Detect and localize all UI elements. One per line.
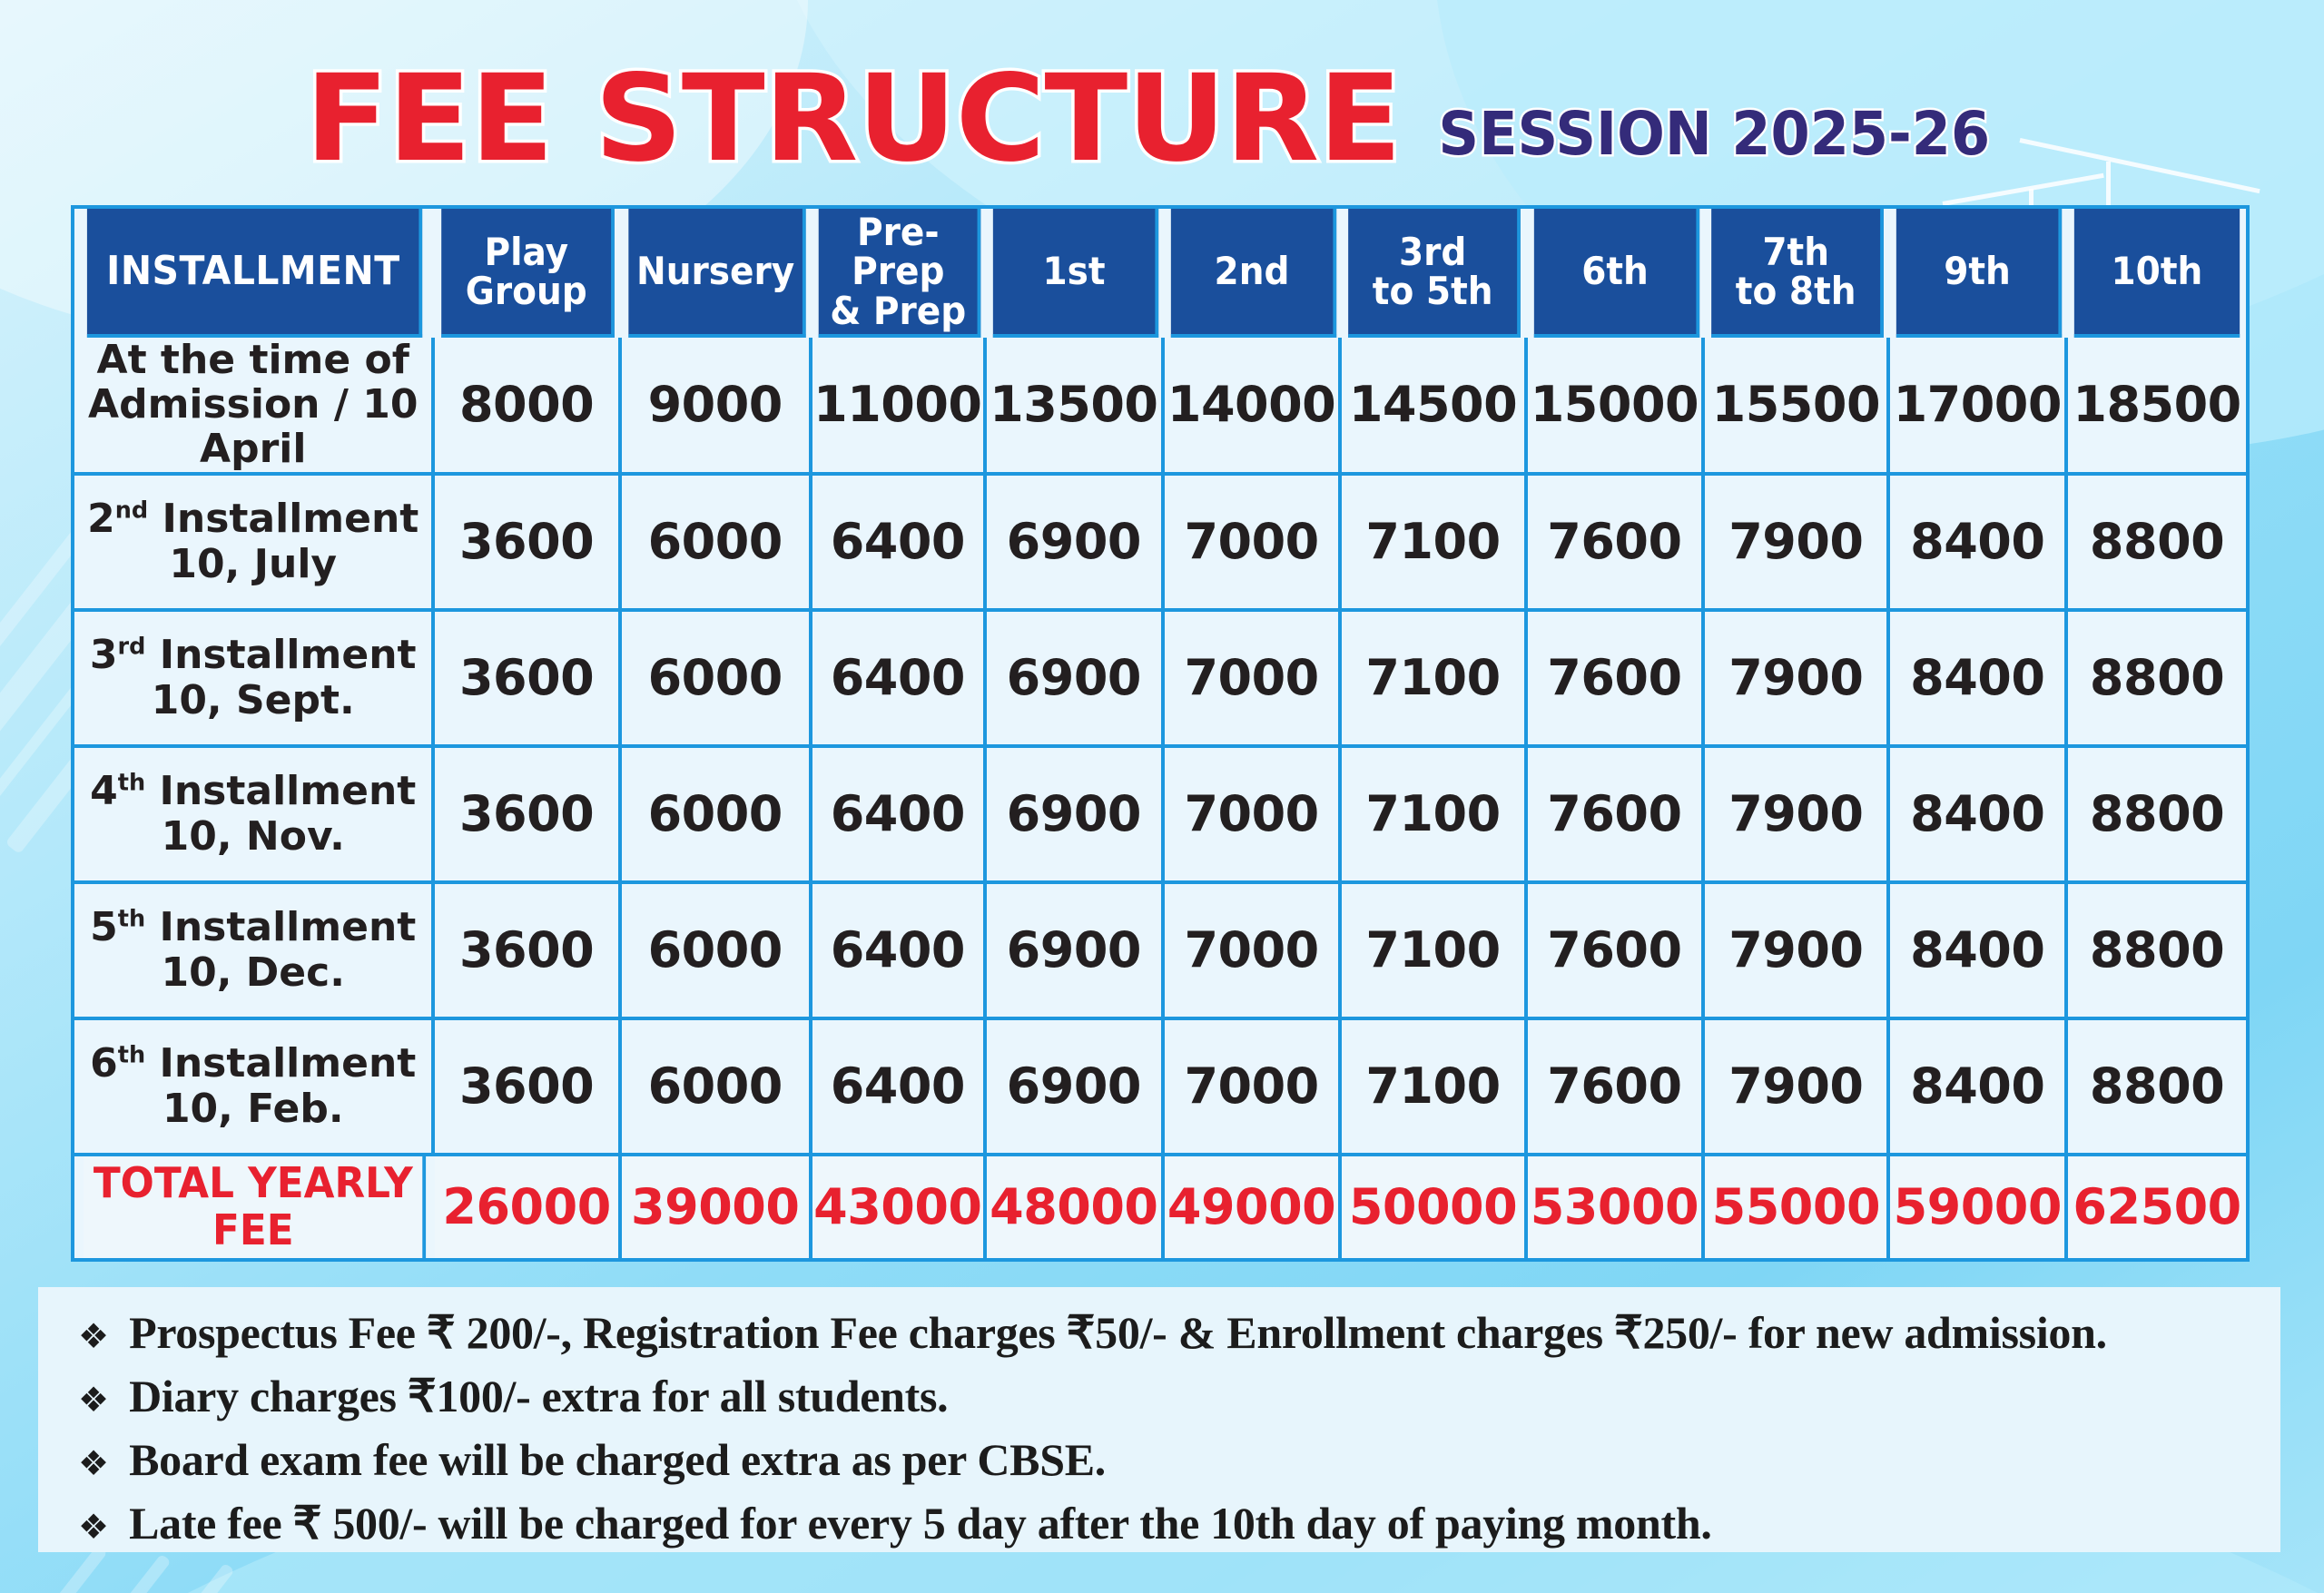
fee-cell: 8800	[2068, 612, 2246, 748]
installment-label-line: 10, Sept.	[84, 678, 422, 723]
note-text: Diary charges ₹100/- extra for all stude…	[129, 1371, 948, 1421]
fee-structure-table: INSTALLMENTPlayGroupNurseryPre-Prep& Pre…	[71, 205, 2250, 1262]
fee-cell: 17000	[1890, 338, 2068, 476]
header-line: & Prep	[820, 291, 975, 330]
fee-cell: 7900	[1705, 748, 1890, 884]
installment-label-line: 6th Installment	[84, 1041, 422, 1086]
table-row: At the time ofAdmission / 10 April800090…	[74, 338, 2246, 476]
header-line: 2nd	[1172, 251, 1331, 290]
total-fee-cell: 50000	[1342, 1156, 1527, 1258]
installment-label-line: 5th Installment	[84, 905, 422, 949]
fee-cell: 7900	[1705, 1020, 1890, 1156]
fee-cell: 8800	[2068, 476, 2246, 612]
installment-word: Installment	[145, 904, 416, 950]
fee-cell: 6900	[987, 476, 1165, 612]
column-header-class-2: Nursery	[628, 209, 805, 338]
table-head: INSTALLMENTPlayGroupNurseryPre-Prep& Pre…	[74, 209, 2246, 338]
installment-label: At the time ofAdmission / 10 April	[74, 338, 435, 476]
column-header-installment: INSTALLMENT	[87, 209, 423, 338]
header-line: INSTALLMENT	[89, 251, 418, 291]
session-label: SESSION 2025-26	[1439, 104, 1991, 179]
fee-cell: 7600	[1528, 612, 1706, 748]
table-row: 5th Installment10, Dec.36006000640069007…	[74, 884, 2246, 1020]
fee-cell: 6000	[622, 748, 812, 884]
diamond-bullet-icon: ❖	[78, 1510, 109, 1545]
fee-cell: 8800	[2068, 1020, 2246, 1156]
diamond-bullet-icon: ❖	[78, 1447, 109, 1481]
fee-cell: 8400	[1890, 748, 2068, 884]
fee-cell: 6000	[622, 476, 812, 612]
installment-label-line: 10, Nov.	[84, 814, 422, 859]
table-body: At the time ofAdmission / 10 April800090…	[74, 338, 2246, 1258]
total-fee-cell: 49000	[1165, 1156, 1343, 1258]
installment-word: Installment	[148, 496, 419, 542]
installment-word: Installment	[145, 768, 416, 814]
fee-cell: 6400	[812, 612, 987, 748]
note-item: ❖Board exam fee will be charged extra as…	[78, 1434, 2253, 1485]
fee-cell: 14500	[1342, 338, 1527, 476]
notes-panel: ❖Prospectus Fee ₹ 200/-, Registration Fe…	[38, 1287, 2280, 1552]
fee-cell: 6400	[812, 884, 987, 1020]
installment-label: 3rd Installment10, Sept.	[74, 612, 435, 748]
fee-cell: 7600	[1528, 1020, 1706, 1156]
fee-cell: 6900	[987, 884, 1165, 1020]
column-header-class-5: 2nd	[1171, 209, 1336, 338]
total-fee-cell: 43000	[812, 1156, 987, 1258]
fee-cell: 8800	[2068, 884, 2246, 1020]
fee-cell: 7600	[1528, 884, 1706, 1020]
header-line: Play	[444, 232, 610, 271]
fee-cell: 7100	[1342, 612, 1527, 748]
page-title: FEE STRUCTURE	[305, 59, 1401, 179]
installment-word: Installment	[145, 632, 416, 678]
fee-cell: 6900	[987, 612, 1165, 748]
fee-cell: 8400	[1890, 612, 2068, 748]
installment-label: 5th Installment10, Dec.	[74, 884, 435, 1020]
ordinal-number: 6	[90, 1040, 118, 1087]
bg-stripe-7	[141, 1563, 234, 1593]
fee-cell: 7000	[1165, 1020, 1343, 1156]
fee-cell: 6000	[622, 884, 812, 1020]
header-line: 3rd	[1350, 232, 1515, 271]
total-fee-cell: 55000	[1705, 1156, 1890, 1258]
fee-cell: 3600	[435, 1020, 621, 1156]
column-header-class-6: 3rdto 5th	[1349, 209, 1521, 338]
fee-cell: 7000	[1165, 476, 1343, 612]
ordinal-number: 5	[90, 904, 118, 950]
fee-cell: 7900	[1705, 612, 1890, 748]
total-fee-cell: 59000	[1890, 1156, 2068, 1258]
fee-cell: 7900	[1705, 884, 1890, 1020]
fee-cell: 6400	[812, 748, 987, 884]
page-header: FEE STRUCTURE SESSION 2025-26	[0, 20, 2324, 179]
total-fee-cell: 26000	[435, 1156, 621, 1258]
fee-cell: 8000	[435, 338, 621, 476]
header-line: 9th	[1898, 251, 2057, 290]
ordinal-suffix: rd	[118, 634, 146, 661]
header-line: to 5th	[1350, 271, 1515, 310]
installment-label-line: At the time of	[84, 338, 422, 382]
fee-cell: 6900	[987, 1020, 1165, 1156]
column-header-class-10: 10th	[2074, 209, 2240, 338]
header-line: Group	[444, 271, 610, 310]
fee-cell: 6000	[622, 1020, 812, 1156]
fee-cell: 3600	[435, 884, 621, 1020]
total-fee-cell: 62500	[2068, 1156, 2246, 1258]
ordinal-number: 3	[90, 632, 118, 678]
ordinal-suffix: th	[118, 906, 145, 933]
fee-cell: 7100	[1342, 476, 1527, 612]
installment-word: Installment	[145, 1040, 416, 1087]
fee-table-container: INSTALLMENTPlayGroupNurseryPre-Prep& Pre…	[71, 205, 2250, 1262]
bg-stripe-6	[77, 1554, 171, 1593]
fee-cell: 18500	[2068, 338, 2246, 476]
ordinal-suffix: th	[118, 770, 145, 797]
fee-cell: 7000	[1165, 612, 1343, 748]
note-item: ❖Diary charges ₹100/- extra for all stud…	[78, 1371, 2253, 1421]
column-header-class-4: 1st	[993, 209, 1158, 338]
note-item: ❖Late fee ₹ 500/- will be charged for ev…	[78, 1498, 2253, 1549]
fee-cell: 7100	[1342, 1020, 1527, 1156]
fee-cell: 3600	[435, 748, 621, 884]
fee-cell: 9000	[622, 338, 812, 476]
note-text: Board exam fee will be charged extra as …	[129, 1434, 1106, 1485]
fee-cell: 7600	[1528, 476, 1706, 612]
table-header-row: INSTALLMENTPlayGroupNurseryPre-Prep& Pre…	[74, 209, 2246, 338]
fee-cell: 11000	[812, 338, 987, 476]
fee-cell: 8800	[2068, 748, 2246, 884]
header-line: 1st	[995, 251, 1154, 290]
installment-label-line: 10, July	[84, 542, 422, 586]
fee-cell: 6400	[812, 476, 987, 612]
diamond-bullet-icon: ❖	[78, 1320, 109, 1354]
column-header-class-1: PlayGroup	[442, 209, 615, 338]
fee-cell: 7600	[1528, 748, 1706, 884]
fee-cell: 15000	[1528, 338, 1706, 476]
installment-label-line: 4th Installment	[84, 769, 422, 813]
fee-cell: 15500	[1705, 338, 1890, 476]
header-line: 6th	[1535, 251, 1694, 290]
fee-cell: 8400	[1890, 476, 2068, 612]
header-line: 7th	[1713, 232, 1878, 271]
fee-cell: 13500	[987, 338, 1165, 476]
header-line: 10th	[2076, 251, 2238, 290]
note-text: Late fee ₹ 500/- will be charged for eve…	[129, 1498, 1711, 1549]
diamond-bullet-icon: ❖	[78, 1383, 109, 1418]
table-row: 4th Installment10, Nov.36006000640069007…	[74, 748, 2246, 884]
fee-cell: 7100	[1342, 748, 1527, 884]
fee-cell: 14000	[1165, 338, 1343, 476]
fee-cell: 7000	[1165, 884, 1343, 1020]
installment-label-line: 10, Dec.	[84, 950, 422, 995]
ordinal-suffix: nd	[115, 497, 148, 525]
ordinal-number: 2	[87, 496, 115, 542]
note-text: Prospectus Fee ₹ 200/-, Registration Fee…	[129, 1307, 2107, 1358]
column-header-class-9: 9th	[1896, 209, 2062, 338]
ordinal-suffix: th	[118, 1042, 145, 1069]
fee-cell: 8400	[1890, 1020, 2068, 1156]
total-label: TOTAL YEARLY FEE	[84, 1156, 427, 1258]
fee-cell: 6900	[987, 748, 1165, 884]
installment-label: 6th Installment10, Feb.	[74, 1020, 435, 1156]
fee-cell: 7000	[1165, 748, 1343, 884]
fee-cell: 6000	[622, 612, 812, 748]
total-fee-cell: 39000	[622, 1156, 812, 1258]
installment-label-line: 10, Feb.	[84, 1087, 422, 1131]
total-fee-cell: 48000	[987, 1156, 1165, 1258]
note-item: ❖Prospectus Fee ₹ 200/-, Registration Fe…	[78, 1307, 2253, 1358]
fee-cell: 3600	[435, 612, 621, 748]
header-line: Pre-Prep	[820, 212, 975, 291]
fee-cell: 7900	[1705, 476, 1890, 612]
installment-label-line: Admission / 10 April	[84, 382, 422, 472]
header-line: Nursery	[630, 251, 801, 290]
fee-cell: 7100	[1342, 884, 1527, 1020]
installment-label-line: 2nd Installment	[84, 497, 422, 541]
column-header-class-3: Pre-Prep& Prep	[818, 209, 980, 338]
fee-cell: 3600	[435, 476, 621, 612]
installment-label: 4th Installment10, Nov.	[74, 748, 435, 884]
fee-cell: 6400	[812, 1020, 987, 1156]
table-row: 3rd Installment10, Sept.3600600064006900…	[74, 612, 2246, 748]
total-fee-cell: 53000	[1528, 1156, 1706, 1258]
ordinal-number: 4	[90, 768, 118, 814]
table-row: 6th Installment10, Feb.36006000640069007…	[74, 1020, 2246, 1156]
installment-label-line: 3rd Installment	[84, 633, 422, 677]
column-header-class-7: 6th	[1533, 209, 1699, 338]
installment-label: 2nd Installment10, July	[74, 476, 435, 612]
column-header-class-8: 7thto 8th	[1711, 209, 1884, 338]
table-row: 2nd Installment10, July36006000640069007…	[74, 476, 2246, 612]
header-line: to 8th	[1713, 271, 1878, 310]
total-row: TOTAL YEARLY FEE260003900043000480004900…	[74, 1156, 2246, 1258]
fee-cell: 8400	[1890, 884, 2068, 1020]
